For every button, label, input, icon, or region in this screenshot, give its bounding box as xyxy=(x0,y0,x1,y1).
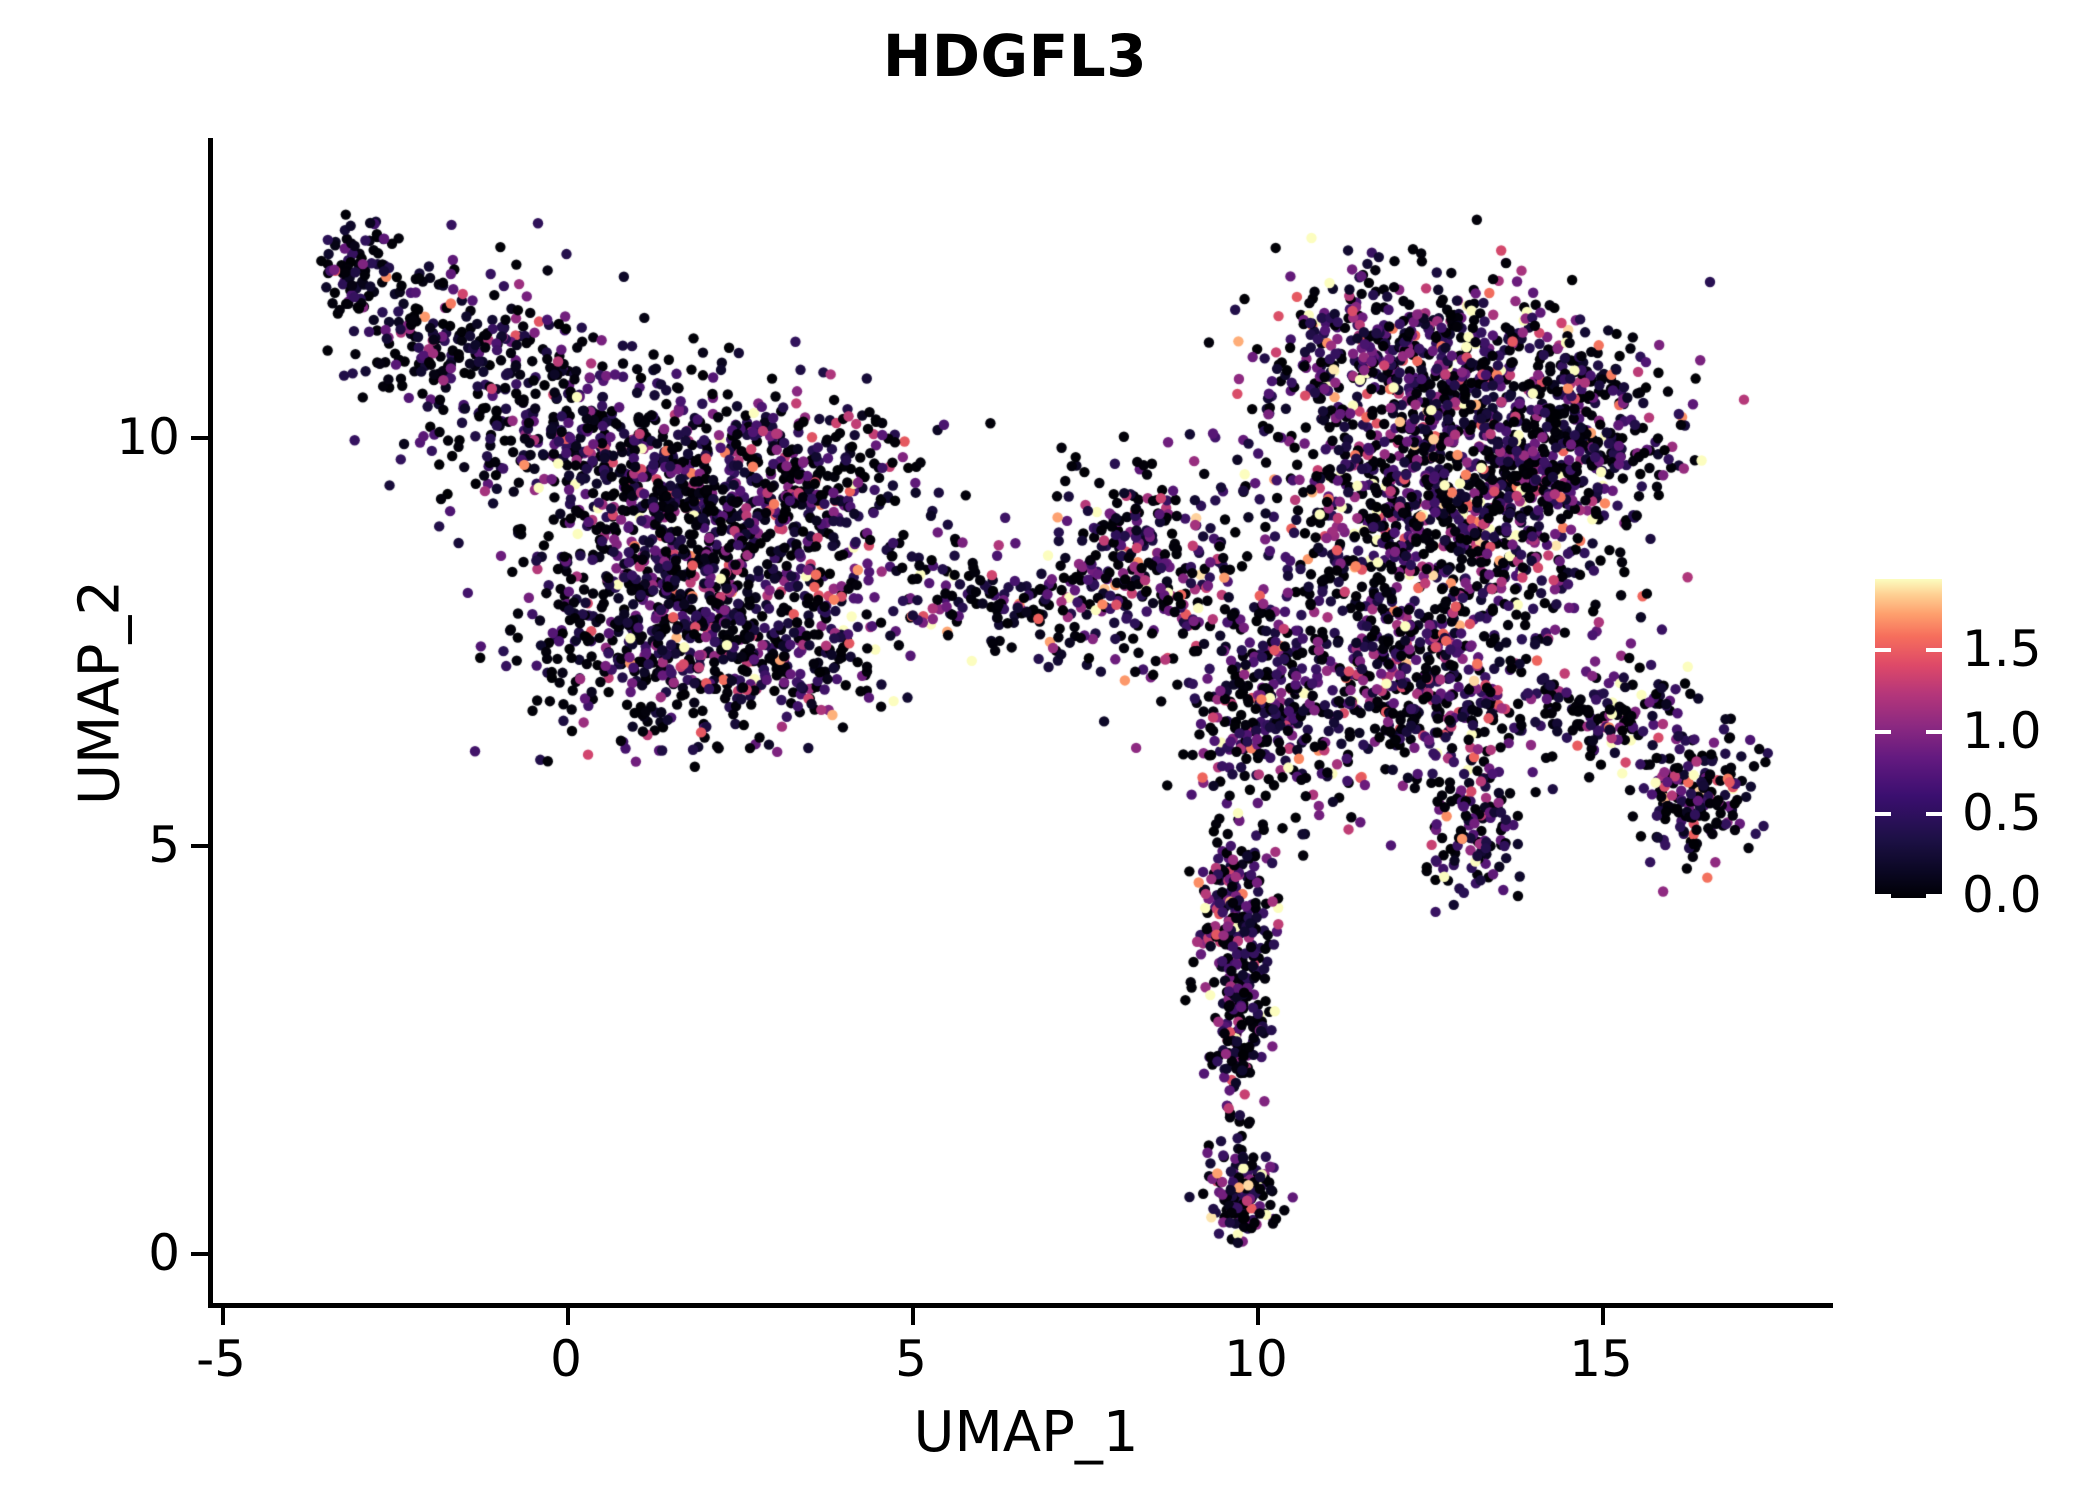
colorbar-tick-mark xyxy=(1926,894,1942,898)
colorbar-tick-label: 0.0 xyxy=(1962,866,2100,924)
colorbar-tick-mark xyxy=(1875,812,1891,816)
x-tick-mark xyxy=(911,1308,915,1325)
colorbar-tick-label: 1.0 xyxy=(1962,702,2100,760)
x-axis-label: UMAP_1 xyxy=(221,1400,1831,1465)
y-tick-mark xyxy=(191,1252,208,1256)
x-tick-label: 0 xyxy=(466,1330,666,1388)
colorbar xyxy=(1875,579,1942,898)
x-tick-mark xyxy=(566,1308,570,1325)
y-tick-mark xyxy=(191,844,208,848)
colorbar-tick-label: 0.5 xyxy=(1962,784,2100,842)
y-axis-spine xyxy=(208,138,213,1308)
y-tick-mark xyxy=(191,436,208,440)
x-tick-label: 15 xyxy=(1501,1330,1701,1388)
plot-area xyxy=(221,140,1831,1305)
x-tick-label: 5 xyxy=(811,1330,1011,1388)
scatter-canvas xyxy=(221,140,1831,1305)
y-axis-label: UMAP_2 xyxy=(68,293,133,1093)
colorbar-tick-mark xyxy=(1926,812,1942,816)
x-tick-label: 10 xyxy=(1156,1330,1356,1388)
x-tick-mark xyxy=(1256,1308,1260,1325)
page-title: HDGFL3 xyxy=(0,22,2030,90)
colorbar-tick-mark xyxy=(1875,648,1891,652)
x-tick-mark xyxy=(221,1308,225,1325)
colorbar-tick-label: 1.5 xyxy=(1962,620,2100,678)
colorbar-tick-mark xyxy=(1875,730,1891,734)
umap-feature-plot: HDGFL3 10 5 0 -5 0 5 10 15 UMAP_1 UMAP_2… xyxy=(0,0,2100,1500)
colorbar-tick-mark xyxy=(1875,894,1891,898)
x-axis-spine xyxy=(208,1303,1833,1308)
y-tick-label: 0 xyxy=(30,1224,180,1282)
x-tick-label: -5 xyxy=(121,1330,321,1388)
colorbar-tick-mark xyxy=(1926,730,1942,734)
colorbar-tick-mark xyxy=(1926,648,1942,652)
x-tick-mark xyxy=(1601,1308,1605,1325)
